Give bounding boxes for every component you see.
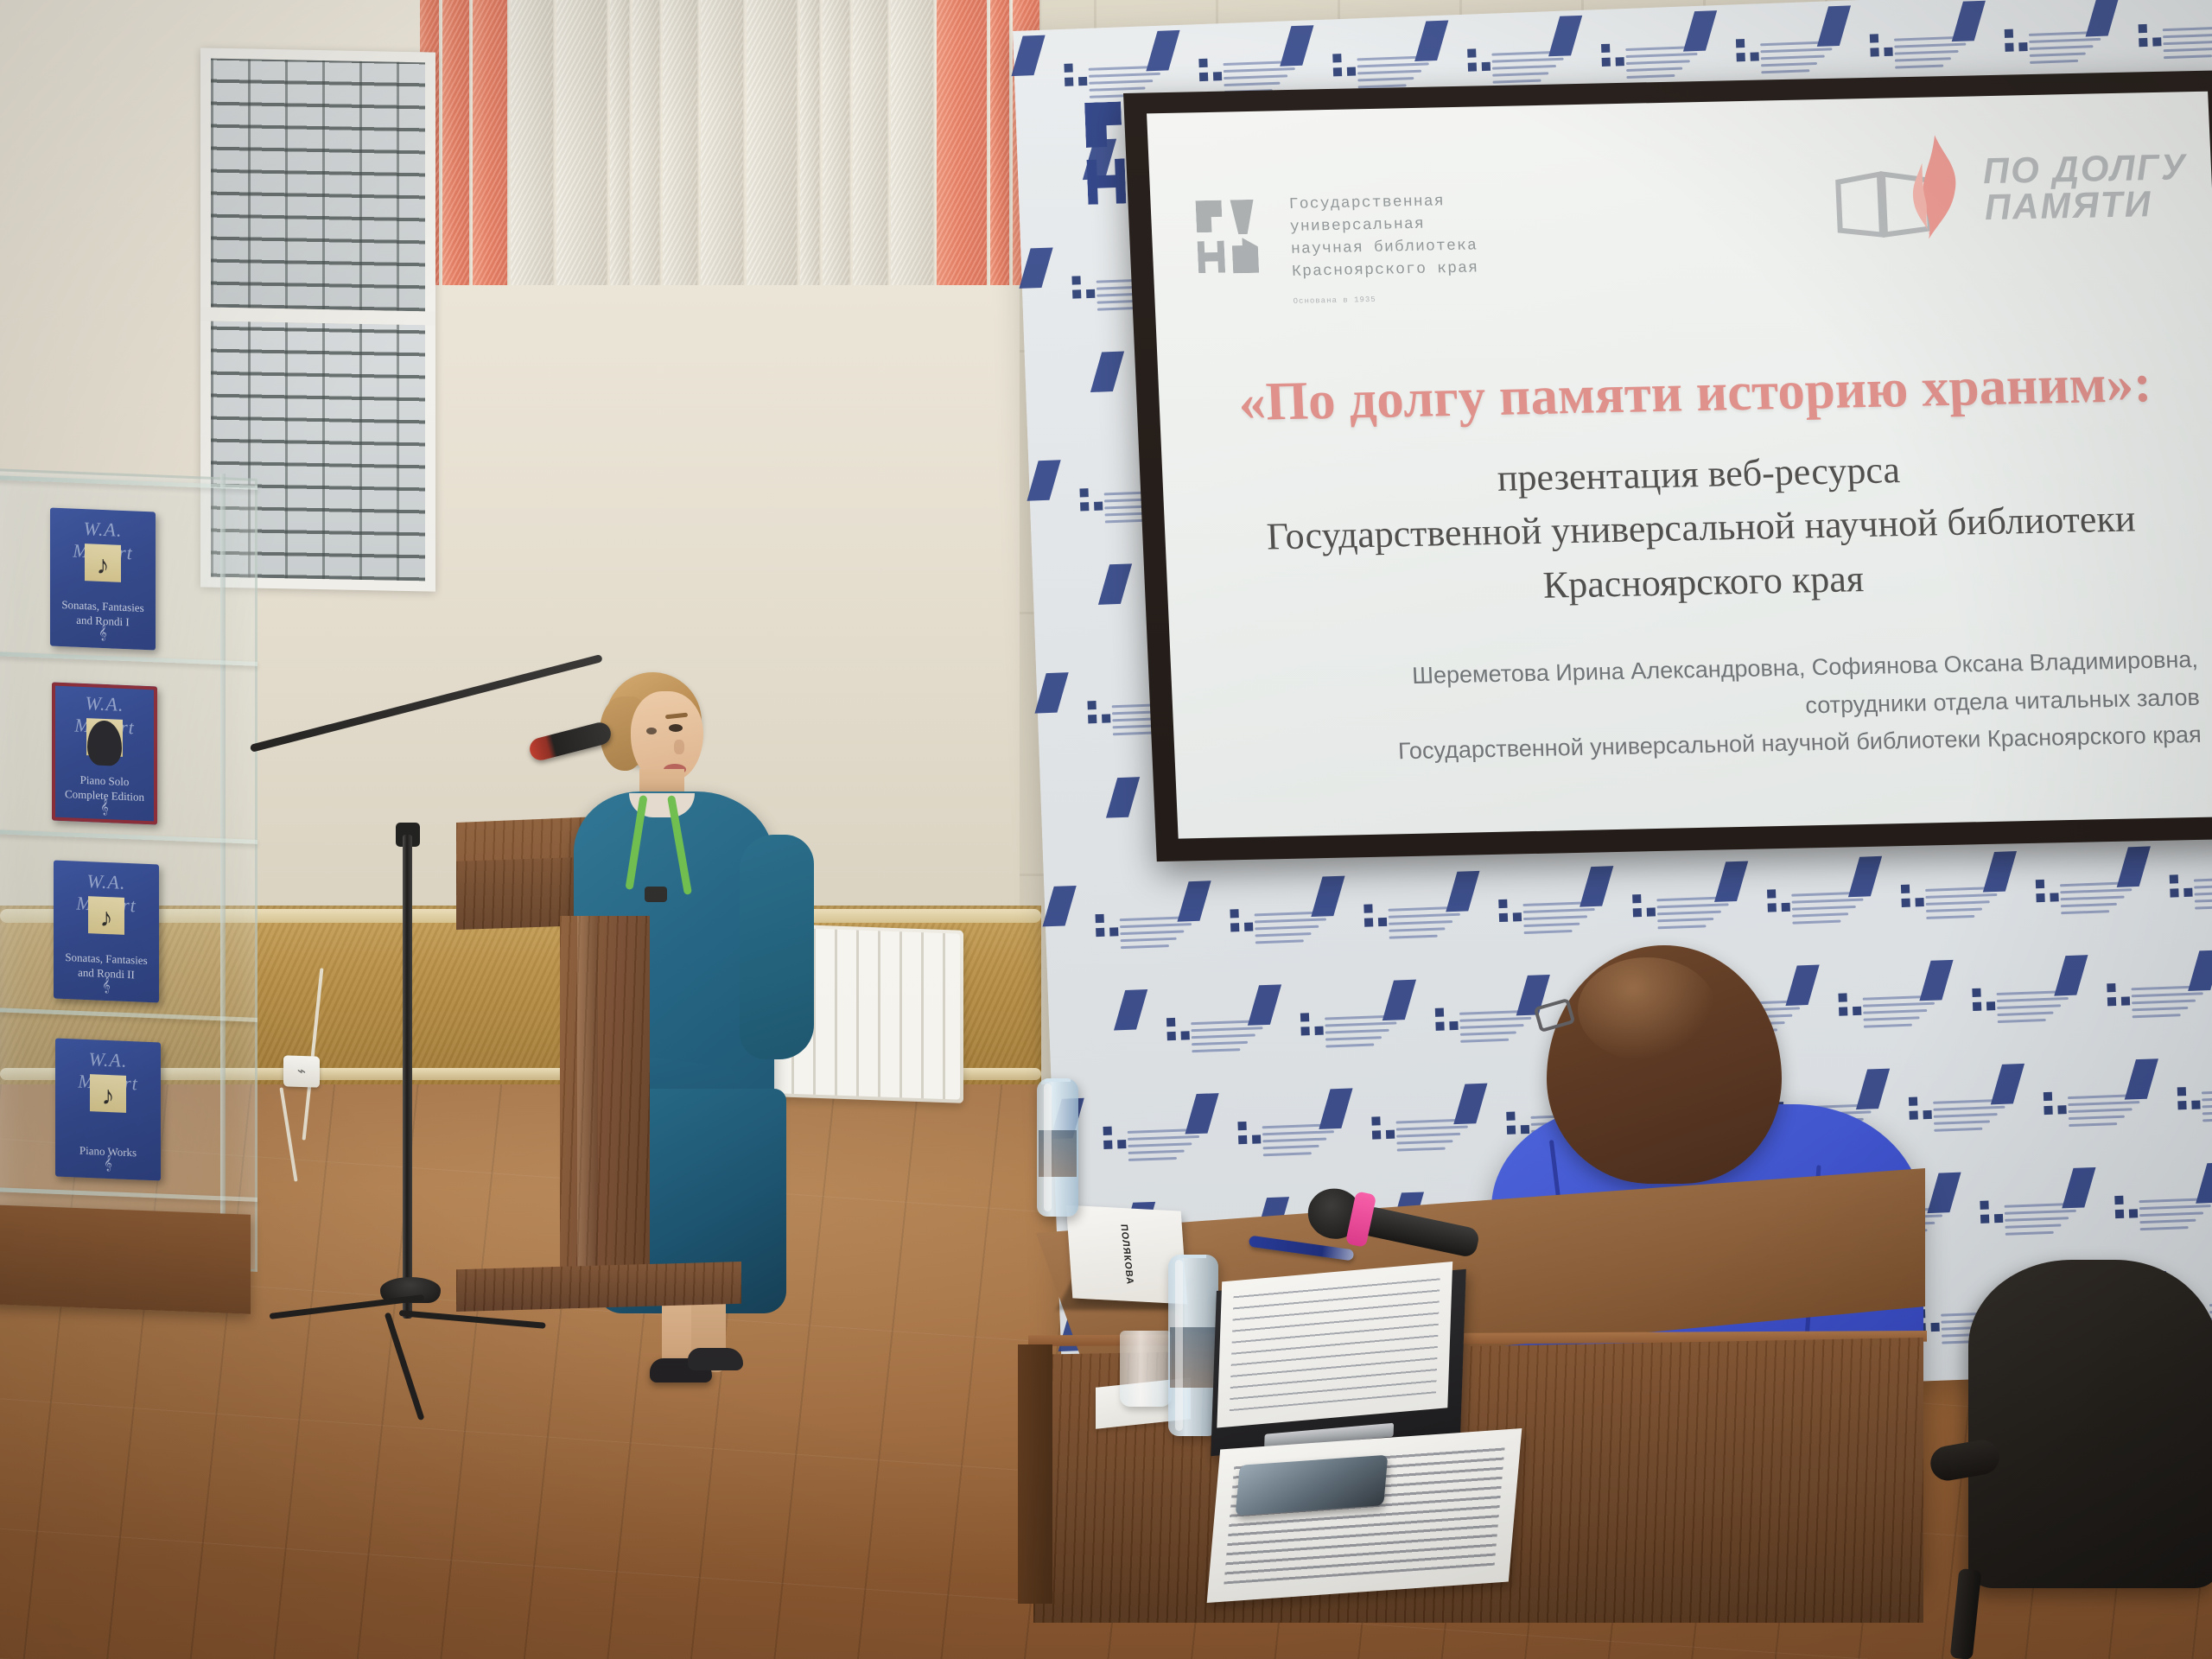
banner-diamond-motif: [1785, 964, 1819, 1005]
banner-dot-motif: [2177, 1086, 2201, 1109]
banner-motif-line: [1926, 893, 1998, 899]
banner-dot: [2044, 1092, 2052, 1101]
banner-diamond-motif: [1248, 984, 1281, 1025]
banner-dot-motif: [2107, 982, 2130, 1006]
blind-slat[interactable]: [990, 0, 1009, 285]
banner-motif-line: [1761, 69, 1809, 73]
banner-motif-line: [1626, 67, 1682, 72]
blind-slat[interactable]: [610, 0, 629, 285]
banner-motif-line: [1255, 939, 1303, 944]
banner-dot: [1103, 1140, 1112, 1148]
bottle-neck: [1180, 1255, 1206, 1258]
banner-diamond-motif: [1414, 21, 1448, 61]
banner-motif-line: [2195, 883, 2212, 888]
banner-dot-motif: [1767, 888, 1790, 912]
banner-dot: [1332, 54, 1341, 62]
banner-dot: [1386, 1129, 1395, 1138]
banner-dot: [1467, 48, 1476, 57]
projection-screen: Государственная универсальная научная би…: [1123, 70, 2212, 861]
banner-dot-motif: [1901, 884, 1924, 907]
banner-motif-line: [2195, 890, 2212, 895]
banner-dot: [2005, 43, 2013, 52]
water-bottle-back[interactable]: [1037, 1078, 1078, 1217]
blind-slat[interactable]: [800, 0, 819, 285]
banner-dot: [2184, 887, 2193, 896]
banner-dot-motif: [1736, 38, 1759, 61]
banner-dot: [2107, 983, 2115, 992]
project-logo: ПО ДОЛГУ ПАМЯТИ: [1827, 124, 2179, 260]
water-bottle-front[interactable]: [1168, 1255, 1218, 1436]
blind-slat-texture: [800, 0, 819, 285]
banner-dot: [1102, 715, 1110, 723]
banner-dot: [1467, 62, 1476, 71]
banner-dot: [1378, 917, 1387, 925]
tripod-leg-right: [399, 1310, 546, 1329]
speaker-badge: [645, 887, 667, 902]
banner-motif-line: [2005, 1210, 2076, 1215]
banner-motif-line: [1523, 922, 1580, 926]
banner-motif-line: [2005, 1231, 2054, 1236]
logo-glyph-n: [1087, 158, 1127, 205]
banner-motif-line: [1192, 1048, 1240, 1052]
banner-motif-line: [1863, 1009, 1927, 1014]
banner-motif-line: [2068, 1101, 2139, 1106]
projected-slide: Государственная универсальная научная би…: [1147, 92, 2212, 839]
banner-dot: [2139, 24, 2147, 33]
name-tent-card-text: ПОЛЯКОВА: [1118, 1224, 1135, 1286]
speaker-arm: [740, 835, 814, 1059]
banner-dot-motif: [2170, 874, 2193, 897]
smartphone[interactable]: [1236, 1455, 1389, 1516]
banner-motif-line: [1255, 925, 1319, 930]
banner-dot: [1885, 48, 1893, 56]
banner-dot: [1238, 1135, 1247, 1144]
banner-dot: [1086, 289, 1095, 298]
banner-motif-line: [1128, 1157, 1177, 1161]
banner-dot: [2036, 880, 2044, 888]
banner-diamond-motif: [1098, 564, 1132, 605]
banner-dot-motif: [2044, 1091, 2067, 1115]
banner-dot: [1315, 1026, 1324, 1034]
banner-diamond-motif: [1817, 5, 1851, 46]
banner-dot: [1972, 988, 1980, 996]
banner-dot: [1602, 58, 1611, 67]
banner-dot-motif: [1498, 899, 1522, 922]
banner-dot: [2018, 42, 2027, 51]
banner-motif-line: [1760, 55, 1824, 60]
banner-dot: [1435, 1007, 1444, 1016]
banner-dot-motif: [1071, 276, 1095, 299]
banner-dot: [1923, 1110, 1932, 1119]
banner-diamond-motif: [1011, 35, 1045, 76]
banner-line-motif: [2194, 876, 2212, 913]
wall-socket: ⌁: [283, 1055, 320, 1087]
banner-dot: [2170, 874, 2178, 883]
banner-motif-line: [2195, 905, 2212, 909]
banner-motif-line: [1224, 82, 1280, 86]
banner-dot: [1750, 52, 1758, 60]
slide-logo-founded: Основана в 1935: [1293, 296, 1376, 306]
blind-slat[interactable]: [853, 0, 887, 285]
banner-motif-line: [2139, 1219, 2196, 1224]
banner-motif-line: [1927, 914, 1975, 918]
banner-dot: [2005, 29, 2013, 38]
banner-motif-line: [1658, 925, 1707, 929]
banner-motif-line: [1492, 65, 1556, 70]
banner-dot-motif: [1632, 893, 1656, 917]
blind-slat-texture: [610, 0, 629, 285]
blind-slat-texture: [891, 0, 933, 285]
slide-logo-text: Государственная универсальная научная би…: [1288, 189, 1479, 283]
banner-motif-line: [1254, 918, 1325, 923]
banner-motif-line: [2030, 60, 2078, 64]
banner-motif-line: [1325, 1021, 1397, 1027]
banner-dot-motif: [1103, 1126, 1127, 1149]
banner-dot-motif: [1909, 1096, 1932, 1120]
blind-slat[interactable]: [747, 0, 797, 285]
banner-motif-line: [1128, 1135, 1199, 1141]
blind-slat[interactable]: [442, 0, 469, 285]
banner-motif-line: [1262, 1152, 1311, 1156]
banner-dot: [1198, 59, 1207, 67]
banner-dot-motif: [1198, 58, 1222, 81]
book-title-top: W.A. Mozart: [67, 691, 143, 711]
banner-motif-line: [1760, 48, 1832, 53]
banner-motif-line: [1397, 1147, 1446, 1151]
flame-icon: [1900, 133, 1968, 243]
banner-motif-line: [1895, 50, 1959, 55]
banner-diamond-motif: [1580, 866, 1613, 906]
desk-side-panel: [1018, 1344, 1052, 1604]
banner-motif-line: [2030, 53, 2086, 57]
banner-motif-line: [2069, 1122, 2117, 1127]
blind-slat-texture: [747, 0, 797, 285]
banner-motif-line: [1934, 1120, 1990, 1124]
banner-motif-line: [1325, 1036, 1382, 1040]
banner-motif-line: [1396, 1125, 1468, 1130]
slide-logo-glyph-g: [1195, 200, 1223, 233]
banner-motif-line: [1396, 1133, 1460, 1138]
blind-slat[interactable]: [473, 0, 507, 285]
banner-motif-line: [2132, 1007, 2188, 1011]
banner-motif-line: [1389, 912, 1460, 918]
display-book: W.A. MozartPiano Solo Complete Edition𝄞: [52, 682, 157, 824]
banner-motif-line: [2194, 876, 2212, 881]
banner-diamond-motif: [2125, 1058, 2158, 1099]
banner-dot: [1064, 63, 1072, 72]
banner-diamond-motif: [2196, 1162, 2212, 1203]
clef-icon: 𝄞: [104, 1156, 111, 1172]
banner-motif-line: [1090, 86, 1146, 91]
banner-motif-line: [1397, 1140, 1453, 1144]
banner-motif-line: [2060, 888, 2132, 893]
vertical-blinds[interactable]: [420, 0, 1042, 285]
slide-logo-glyph-b: [1231, 238, 1259, 274]
banner-motif-line: [1626, 60, 1690, 65]
banner-dot: [2114, 1210, 2123, 1218]
clipboard[interactable]: [1211, 1269, 1466, 1457]
banner-motif-line: [1791, 898, 1863, 903]
banner-line-motif: [1894, 35, 1978, 73]
blind-slat-texture: [511, 0, 553, 285]
banner-motif-line: [1863, 1016, 1919, 1020]
book-title-top: W.A. Mozart: [65, 517, 141, 537]
banner-motif-line: [2061, 910, 2109, 914]
banner-dot: [1520, 1125, 1529, 1134]
blind-slat-texture: [473, 0, 507, 285]
banner-motif-line: [1627, 74, 1675, 79]
banner-motif-line: [1357, 62, 1429, 67]
project-logo-line2: ПАМЯТИ: [1984, 185, 2190, 226]
banner-dot: [1767, 889, 1776, 898]
banner-dot: [1363, 904, 1372, 912]
banner-dot: [2057, 1105, 2066, 1114]
banner-dot-motif: [1467, 48, 1491, 72]
banner-motif-line: [2060, 895, 2124, 900]
banner-dot: [1980, 1214, 1989, 1223]
blind-slat-texture: [701, 0, 743, 285]
clef-icon: 𝄞: [99, 626, 106, 641]
blind-slat[interactable]: [556, 0, 607, 285]
banner-motif-line: [1657, 918, 1713, 922]
slide-library-logo: Государственная универсальная научная би…: [1195, 188, 1573, 325]
banner-diamond-motif: [1090, 352, 1124, 392]
banner-motif-line: [1128, 1149, 1185, 1154]
banner-dot: [1364, 918, 1373, 926]
speaker-eye-right: [669, 724, 683, 732]
banner-motif-line: [1224, 74, 1287, 79]
banner-dot: [1994, 1214, 2003, 1223]
blind-slat-texture: [937, 0, 987, 285]
display-book: W.A. Mozart♪Piano Works𝄞: [55, 1038, 161, 1180]
banner-motif-line: [2164, 48, 2212, 52]
banner-dot: [1301, 1027, 1310, 1035]
banner-dot: [1506, 1111, 1515, 1120]
banner-motif-line: [1862, 1001, 1934, 1007]
banner-motif-line: [2068, 1108, 2132, 1113]
display-case-post: [220, 474, 226, 1262]
microphone-tripod-legs: [270, 1284, 546, 1346]
book-title-top: W.A. Mozart: [68, 869, 144, 889]
banner-dot-motif: [2005, 29, 2028, 52]
banner-dot: [1512, 912, 1521, 921]
banner-dot: [2177, 1087, 2186, 1096]
banner-dot: [1853, 1006, 1861, 1014]
banner-diamond-motif: [1382, 979, 1416, 1020]
banner-diamond-motif: [2054, 955, 2088, 995]
banner-dot: [1736, 39, 1745, 48]
banner-motif-line: [2195, 898, 2212, 902]
banner-motif-line: [1895, 57, 1951, 61]
banner-dot: [1871, 48, 1879, 56]
banner-dot: [2050, 893, 2058, 901]
banner-motif-line: [2164, 54, 2212, 59]
printed-papers[interactable]: [1207, 1428, 1522, 1603]
banner-dot-motif: [1332, 53, 1356, 76]
office-chair-back[interactable]: [1968, 1260, 2212, 1588]
banner-motif-line: [2069, 1115, 2125, 1119]
banner-dot: [1616, 57, 1624, 66]
banner-motif-line: [1120, 923, 1192, 928]
display-case-base: [0, 1205, 251, 1314]
music-note-icon: ♪: [100, 904, 113, 934]
banner-motif-line: [1262, 1130, 1333, 1135]
drinking-glass[interactable]: [1120, 1331, 1172, 1407]
banner-motif-line: [1626, 53, 1698, 58]
blind-slat-texture: [990, 0, 1009, 285]
banner-dot: [1212, 72, 1221, 80]
blind-slat[interactable]: [937, 0, 987, 285]
banner-dot: [1506, 1125, 1515, 1134]
banner-dot: [1601, 44, 1610, 53]
banner-motif-line: [1089, 73, 1160, 78]
banner-motif-line: [1792, 919, 1840, 924]
banner-motif-line: [1792, 912, 1848, 917]
banner-motif-line: [1896, 65, 1944, 69]
banner-motif-line: [1192, 1033, 1255, 1039]
banner-diamond-motif: [1177, 880, 1211, 921]
banner-dot-motif: [1506, 1111, 1529, 1135]
window-pane-upper: [211, 59, 425, 312]
blind-slat[interactable]: [823, 0, 849, 285]
banner-motif-line: [2202, 1110, 2212, 1115]
banner-diamond-motif: [1848, 855, 1882, 896]
banner-dot: [2178, 1101, 2187, 1109]
banner-motif-line: [1997, 1004, 2061, 1009]
banner-motif-line: [1934, 1106, 2005, 1111]
banner-dot: [1986, 1001, 1995, 1010]
banner-motif-line: [2203, 1117, 2212, 1122]
banner-motif-line: [1255, 932, 1311, 937]
banner-dot: [1973, 1001, 1981, 1010]
banner-dot-motif: [2139, 23, 2162, 47]
banner-diamond-motif: [1983, 851, 2017, 892]
banner-diamond-motif: [1043, 886, 1077, 926]
banner-dot: [1078, 77, 1087, 86]
banner-diamond-motif: [1548, 16, 1582, 56]
banner-motif-line: [1863, 1023, 1911, 1027]
slide-logo-mark: [1195, 199, 1273, 275]
banner-motif-line: [2029, 45, 2093, 50]
slide-logo-line4: Красноярского края: [1292, 257, 1479, 284]
banner-diamond-motif: [1952, 1, 1986, 41]
banner-dot: [1371, 1116, 1380, 1125]
blind-slat-texture: [632, 0, 659, 285]
banner-motif-line: [2164, 40, 2212, 45]
banner-dot: [1781, 902, 1789, 911]
banner-dot: [2107, 997, 2115, 1006]
slide-authors: Шереметова Ирина Александровна, Софиянов…: [1223, 641, 2202, 775]
banner-diamond-motif: [1280, 25, 1313, 66]
banner-motif-line: [1089, 79, 1153, 85]
blind-slat[interactable]: [511, 0, 553, 285]
banner-motif-line: [1761, 62, 1817, 67]
banner-dot: [1647, 907, 1656, 916]
display-book: W.A. Mozart♪Sonatas, Fantasies and Rondi…: [54, 860, 159, 1002]
banner-diamond-motif: [1019, 248, 1052, 289]
clef-icon: 𝄞: [100, 800, 108, 816]
banner-dot-motif: [1980, 1200, 2003, 1224]
banner-line-motif: [1625, 45, 1709, 82]
banner-line-motif: [2029, 30, 2113, 67]
banner-dot: [1071, 276, 1080, 284]
presentation-room-scene: W.A. Mozart♪Sonatas, Fantasies and Rondi…: [0, 0, 2212, 1659]
banner-dot: [1166, 1032, 1175, 1040]
banner-motif-line: [1997, 997, 2069, 1002]
banner-dot: [1103, 1126, 1112, 1135]
blind-slat[interactable]: [891, 0, 933, 285]
banner-dot: [1109, 927, 1118, 936]
banner-motif-line: [2132, 1014, 2180, 1018]
banner-dot: [1838, 993, 1847, 1001]
banner-diamond-motif: [2086, 0, 2120, 36]
banner-dot-motif: [1601, 43, 1624, 67]
socket-glyph: ⌁: [297, 1063, 306, 1080]
banner-dot: [1333, 67, 1342, 76]
banner-motif-line: [1998, 1019, 2046, 1023]
banner-diamond-motif: [1927, 1173, 1961, 1213]
banner-motif-line: [1357, 70, 1421, 75]
banner-dot-motif: [1870, 34, 1893, 57]
banner-diamond-motif: [2188, 950, 2212, 990]
banner-dot-motif: [1435, 1007, 1459, 1031]
music-note-icon: ♪: [97, 551, 110, 582]
banner-dot: [1902, 898, 1910, 906]
slide-logo-glyph-n: [1198, 241, 1226, 274]
banner-motif-line: [1120, 930, 1184, 935]
banner-dot: [1901, 884, 1910, 893]
banner-motif-line: [1128, 1142, 1192, 1147]
banner-motif-line: [1192, 1041, 1248, 1046]
banner-dot: [1910, 1110, 1918, 1119]
microphone-stand-pole[interactable]: [403, 835, 412, 1319]
blind-slat[interactable]: [663, 0, 697, 285]
banner-motif-line: [2202, 1103, 2212, 1108]
blind-slat[interactable]: [632, 0, 659, 285]
banner-dot: [1839, 1007, 1847, 1015]
banner-motif-line: [1121, 937, 1177, 941]
blind-slat[interactable]: [701, 0, 743, 285]
banner-diamond-motif: [1146, 30, 1179, 71]
banner-motif-line: [1523, 930, 1572, 934]
banner-dot: [1347, 67, 1356, 75]
banner-motif-line: [1459, 1016, 1531, 1021]
banner-dot: [1096, 913, 1104, 922]
slide-subtitle: презентация веб-ресурса Государственной …: [1213, 437, 2188, 620]
banner-motif-line: [1935, 1127, 1983, 1131]
banner-dot-motif: [1230, 908, 1253, 931]
banner-motif-line: [1460, 1038, 1509, 1042]
banner-line-motif: [2163, 26, 2212, 63]
banner-diamond-motif: [1319, 1088, 1352, 1128]
banner-diamond-motif: [1856, 1068, 1890, 1109]
banner-dot: [1166, 1018, 1175, 1027]
banner-dot: [1087, 701, 1096, 709]
seated-person-hair-highlight: [1578, 957, 1716, 1061]
banner-dot: [2120, 996, 2129, 1005]
bottle-highlight: [1175, 1260, 1183, 1431]
banner-dot: [1079, 488, 1088, 497]
music-note-icon: ♪: [102, 1082, 115, 1112]
banner-motif-line: [1223, 67, 1294, 73]
clipboard-paper: [1217, 1262, 1452, 1428]
banner-dot: [1237, 1122, 1246, 1130]
banner-diamond-motif: [1034, 673, 1068, 714]
banner-dot: [1230, 923, 1239, 931]
blind-slat-texture: [556, 0, 607, 285]
banner-motif-line: [1792, 906, 1856, 911]
speaker-nose: [674, 740, 684, 754]
